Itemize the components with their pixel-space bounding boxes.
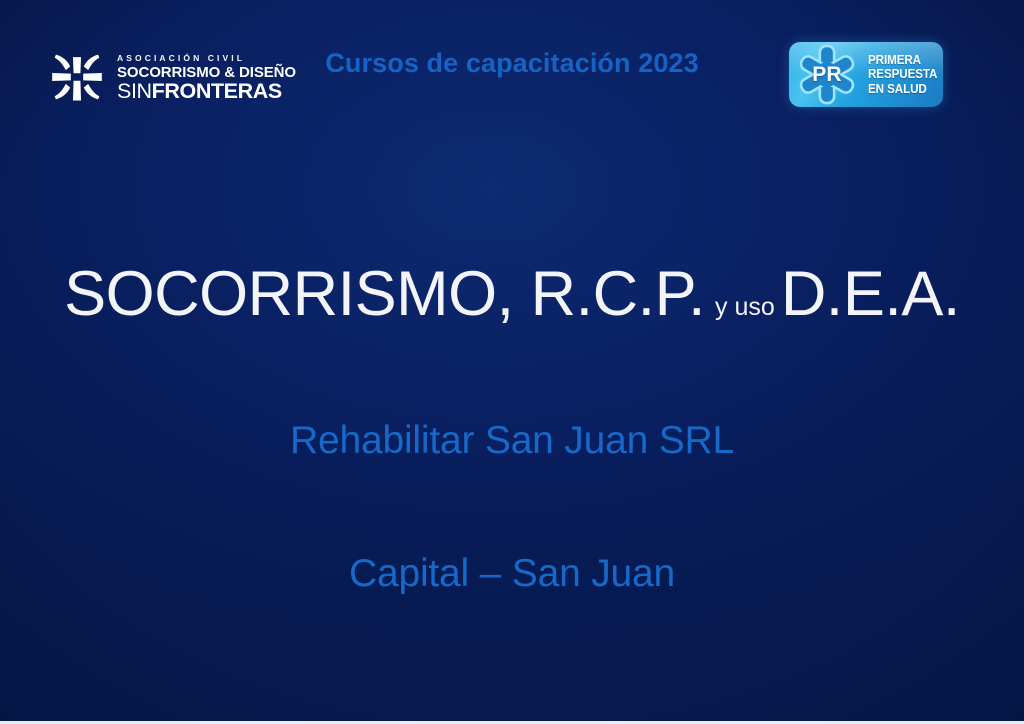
- pr-primera-respuesta-badge: PR PRIMERA RESPUESTA EN SALUD: [789, 42, 943, 107]
- main-title-connector: y uso: [705, 293, 781, 321]
- slide-header: ASOCIACIÓN CIVIL SOCORRISMO & DISEÑO SIN…: [0, 0, 1024, 130]
- pr-tagline-line-2: RESPUESTA: [868, 67, 937, 81]
- pr-tagline: PRIMERA RESPUESTA EN SALUD: [868, 53, 943, 96]
- presentation-slide: ASOCIACIÓN CIVIL SOCORRISMO & DISEÑO SIN…: [0, 0, 1024, 724]
- pr-tagline-line-1: PRIMERA: [868, 53, 937, 67]
- slide-subtitle-location: Capital – San Juan: [0, 552, 1024, 596]
- org-name-sin: SIN: [117, 79, 152, 103]
- slide-main-title: SOCORRISMO, R.C.P.y usoD.E.A.: [0, 258, 1024, 330]
- main-title-part-1: SOCORRISMO, R.C.P.: [64, 259, 705, 329]
- pr-initials-label: PR: [793, 42, 861, 107]
- org-name-fronteras: FRONTERAS: [152, 79, 282, 103]
- main-title-part-2: D.E.A.: [781, 259, 960, 329]
- pr-tagline-line-3: EN SALUD: [868, 82, 937, 96]
- org-name-sinfronteras: SINFRONTERAS: [117, 81, 296, 103]
- slide-subtitle-organization: Rehabilitar San Juan SRL: [0, 419, 1024, 463]
